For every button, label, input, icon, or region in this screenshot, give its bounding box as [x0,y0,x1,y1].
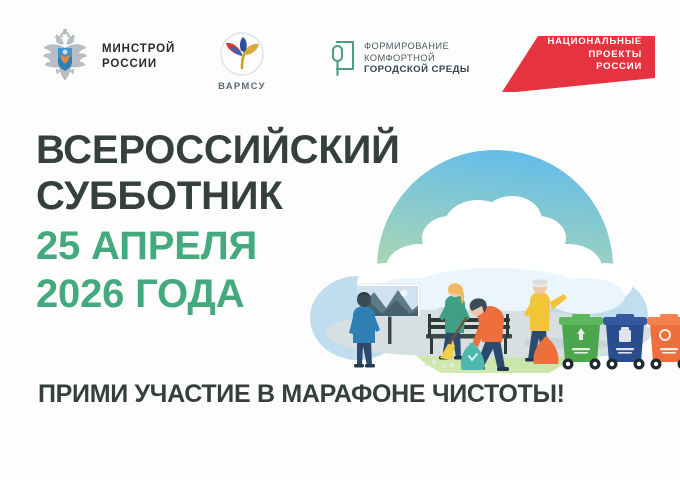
varmsu-logo[interactable]: ВАРМСУ [214,30,270,92]
minstroy-rossii-logo[interactable]: МИНСТРОЙ РОССИИ [36,28,175,86]
date-line2: 2026 ГОДА [36,274,436,314]
fkgs-line3: ГОРОДСКОЙ СРЕДЫ [364,64,470,76]
green-recycling-bin [559,314,603,370]
minstroy-label: МИНСТРОЙ РОССИИ [102,42,175,71]
orange-recycling-bin [647,314,680,370]
natsproekty-logo[interactable]: НАЦИОНАЛЬНЫЕ ПРОЕКТЫ РОССИИ [500,26,655,92]
headline-line1: ВСЕРОССИЙСКИЙ [36,131,436,171]
npr-line2: ПРОЕКТЫ [547,49,642,62]
fkgs-label: ФОРМИРОВАНИЕ КОМФОРТНОЙ ГОРОДСКОЙ СРЕДЫ [364,40,470,77]
fkgs-logo[interactable]: ФОРМИРОВАНИЕ КОМФОРТНОЙ ГОРОДСКОЙ СРЕДЫ [327,36,470,80]
tagline: ПРИМИ УЧАСТИЕ В МАРАФОНЕ ЧИСТОТЫ! [38,380,565,409]
npr-line3: РОССИИ [547,61,642,74]
natsproekty-label: НАЦИОНАЛЬНЫЕ ПРОЕКТЫ РОССИИ [547,36,642,74]
fkgs-line1: ФОРМИРОВАНИЕ [364,40,470,52]
headline-block: ВСЕРОССИЙСКИЙ СУББОТНИК 25 АПРЕЛЯ 2026 Г… [36,131,436,314]
minstroy-line2: РОССИИ [102,57,175,72]
house-key-icon [327,36,357,80]
npr-line1: НАЦИОНАЛЬНЫЕ [547,36,642,49]
minstroy-line1: МИНСТРОЙ [102,42,175,57]
varmsu-plant-icon [214,30,270,80]
poster-root: МИНСТРОЙ РОССИИ ВАРМСУ [0,0,680,480]
blue-recycling-bin [603,314,647,370]
fkgs-line2: КОМФОРТНОЙ [364,52,470,64]
varmsu-label: ВАРМСУ [218,81,266,92]
date-line1: 25 АПРЕЛЯ [36,226,436,266]
double-headed-eagle-icon [36,28,94,86]
logo-bar: МИНСТРОЙ РОССИИ ВАРМСУ [0,0,680,112]
headline-line2: СУББОТНИК [36,177,436,217]
